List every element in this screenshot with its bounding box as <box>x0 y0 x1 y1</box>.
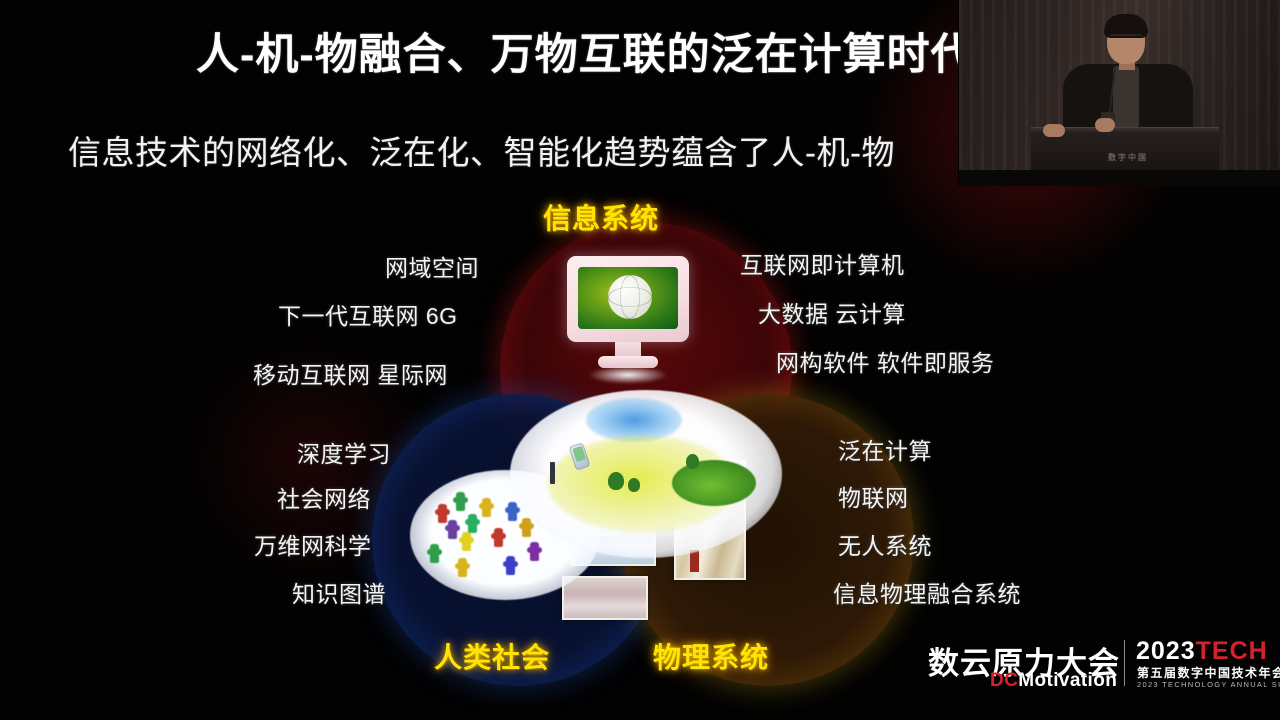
venn-diagram <box>372 222 892 662</box>
logo-event-en: 2023 TECHNOLOGY ANNUAL SUMMIT <box>1137 680 1280 689</box>
post-icon <box>550 462 555 484</box>
keyword-top-right-2: 大数据 云计算 <box>758 295 906 329</box>
person-figure <box>438 504 447 523</box>
slide-subtitle: 信息技术的网络化、泛在化、智能化趋势蕴含了人-机-物 <box>68 126 1018 174</box>
person-figure <box>508 502 517 521</box>
person-figure <box>482 498 491 517</box>
person-figure <box>462 532 471 551</box>
keyword-bottom-left-4: 知识图谱 <box>292 575 386 609</box>
keyword-top-left-3: 移动互联网 星际网 <box>253 356 448 390</box>
logo-divider <box>1124 640 1125 686</box>
keyword-top-left-2: 下一代互联网 6G <box>278 297 458 331</box>
keyword-bottom-right-1: 泛在计算 <box>838 432 932 466</box>
photo-crowd <box>562 576 648 620</box>
monitor-light-beam <box>589 366 667 384</box>
keyword-bottom-left-1: 深度学习 <box>297 435 391 469</box>
speaker-shirt <box>1113 66 1139 128</box>
keyword-bottom-right-2: 物联网 <box>838 479 909 513</box>
podium-text: 数字中国 <box>1083 152 1173 163</box>
logo-brand-en: DCMotivation <box>990 670 1117 692</box>
monitor-body <box>567 256 689 342</box>
person-figure <box>448 520 457 539</box>
tree-icon <box>628 478 640 492</box>
green-island-graphic <box>672 460 756 506</box>
logo-brand-en-rest: Motivation <box>1018 670 1117 691</box>
person-figure <box>530 542 539 561</box>
monitor-icon <box>567 256 689 372</box>
keyword-top-right-3: 网构软件 软件即服务 <box>776 344 994 378</box>
venn-label-physical-system: 物理系统 <box>653 636 769 676</box>
glasses-icon <box>1109 34 1143 44</box>
slide-title: 人-机-物融合、万物互联的泛在计算时代 <box>196 31 1016 80</box>
person-figure <box>494 528 503 547</box>
tree-icon <box>686 454 699 469</box>
venn-label-human-society: 人类社会 <box>434 636 550 676</box>
keyword-bottom-right-4: 信息物理融合系统 <box>833 575 1021 609</box>
stage-floor <box>959 170 1280 186</box>
speaker-hand-right <box>1095 118 1115 132</box>
keyword-bottom-left-2: 社会网络 <box>277 480 371 514</box>
keyword-top-right-1: 互联网即计算机 <box>740 246 905 280</box>
logo-year-tech: 2023TECH <box>1136 637 1268 666</box>
logo-event-cn: 第五届数字中国技术年会 <box>1137 664 1280 681</box>
person-figure <box>522 518 531 537</box>
keyword-bottom-left-3: 万维网科学 <box>254 527 372 561</box>
logo-year: 2023 <box>1136 637 1196 665</box>
presentation-slide: 人-机-物融合、万物互联的泛在计算时代 信息技术的网络化、泛在化、智能化趋势蕴含… <box>0 0 1280 720</box>
logo-tech: TECH <box>1196 637 1268 665</box>
speaker-video-overlay[interactable]: 数字中国 <box>958 0 1280 186</box>
event-logo: 数云原力大会 DCMotivation 2023TECH 第五届数字中国技术年会… <box>928 636 1268 698</box>
person-figure <box>456 492 465 511</box>
logo-brand-cn-primary: 数云 <box>928 646 992 681</box>
globe-icon <box>608 275 652 319</box>
speaker-hand-left <box>1043 124 1065 137</box>
tree-icon <box>608 472 624 490</box>
logo-brand-en-dc: DC <box>990 670 1018 691</box>
keyword-top-left-1: 网域空间 <box>385 249 479 283</box>
monitor-screen <box>578 267 678 329</box>
venn-label-information-system: 信息系统 <box>543 197 659 237</box>
person-figure <box>468 514 477 533</box>
person-figure <box>430 544 439 563</box>
person-figure <box>458 558 467 577</box>
keyword-bottom-right-3: 无人系统 <box>838 527 932 561</box>
person-figure <box>506 556 515 575</box>
